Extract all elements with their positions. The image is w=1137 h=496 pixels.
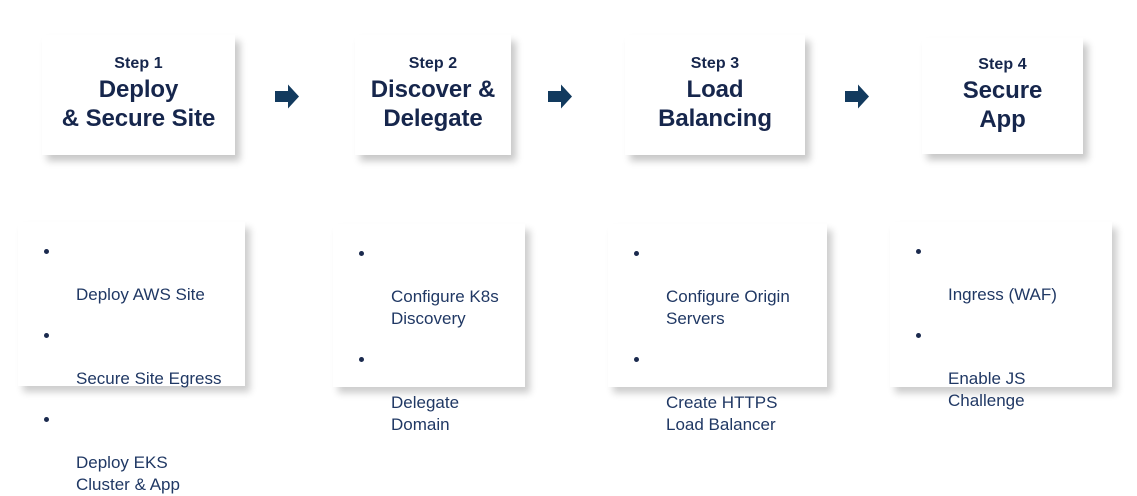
workflow-diagram: Step 1 Deploy & Secure Site Deploy AWS S… (0, 0, 1137, 423)
list-item: Ingress (WAF) (900, 240, 1102, 306)
step-card-1[interactable]: Step 1 Deploy & Secure Site (42, 35, 235, 155)
list-item-label: Delegate Domain (391, 393, 459, 434)
list-item-label: Deploy AWS Site (76, 285, 205, 304)
bullet-card-3[interactable]: Configure Origin Servers Create HTTPS Lo… (608, 224, 827, 387)
list-item: Configure Origin Servers (618, 242, 817, 330)
list-item-label: Create HTTPS Load Balancer (666, 393, 777, 434)
list-item-label: Secure Site Egress (76, 369, 222, 388)
list-item: Deploy EKS Cluster & App (28, 408, 235, 496)
right-arrow-icon (275, 84, 299, 109)
list-item: Enable JS Challenge (900, 324, 1102, 412)
bullet-list-3: Configure Origin Servers Create HTTPS Lo… (618, 242, 817, 436)
step-title-1: Deploy & Secure Site (62, 75, 215, 133)
list-item: Configure K8s Discovery (343, 242, 515, 330)
right-arrow-icon (548, 84, 572, 109)
bullet-dot-icon (634, 357, 639, 362)
step-title-4: Secure App (963, 76, 1042, 134)
list-item-label: Configure Origin Servers (666, 287, 790, 328)
list-item: Deploy AWS Site (28, 240, 235, 306)
bullet-dot-icon (44, 333, 49, 338)
bullet-list-2: Configure K8s Discovery Delegate Domain (343, 242, 515, 436)
step-card-2[interactable]: Step 2 Discover & Delegate (355, 35, 511, 155)
step-eyebrow-4: Step 4 (978, 55, 1027, 75)
bullet-dot-icon (634, 251, 639, 256)
bullet-dot-icon (359, 251, 364, 256)
bullet-dot-icon (359, 357, 364, 362)
right-arrow-icon (845, 84, 869, 109)
bullet-card-2[interactable]: Configure K8s Discovery Delegate Domain (333, 224, 525, 387)
step-card-3[interactable]: Step 3 Load Balancing (625, 35, 805, 155)
bullet-list-4: Ingress (WAF) Enable JS Challenge (900, 240, 1102, 412)
list-item: Secure Site Egress (28, 324, 235, 390)
step-eyebrow-1: Step 1 (114, 54, 163, 74)
bullet-card-1[interactable]: Deploy AWS Site Secure Site Egress Deplo… (18, 222, 245, 386)
step-eyebrow-3: Step 3 (691, 54, 740, 74)
bullet-dot-icon (44, 249, 49, 254)
list-item-label: Ingress (WAF) (948, 285, 1057, 304)
list-item-label: Configure K8s Discovery (391, 287, 499, 328)
step-eyebrow-2: Step 2 (409, 54, 458, 74)
list-item-label: Deploy EKS Cluster & App (76, 453, 180, 494)
bullet-dot-icon (916, 333, 921, 338)
step-card-4[interactable]: Step 4 Secure App (922, 38, 1083, 154)
list-item-label: Enable JS Challenge (948, 369, 1026, 410)
bullet-dot-icon (44, 417, 49, 422)
bullet-card-4[interactable]: Ingress (WAF) Enable JS Challenge (890, 222, 1112, 387)
bullet-dot-icon (916, 249, 921, 254)
step-title-2: Discover & Delegate (371, 75, 495, 133)
bullet-list-1: Deploy AWS Site Secure Site Egress Deplo… (28, 240, 235, 496)
step-title-3: Load Balancing (658, 75, 772, 133)
